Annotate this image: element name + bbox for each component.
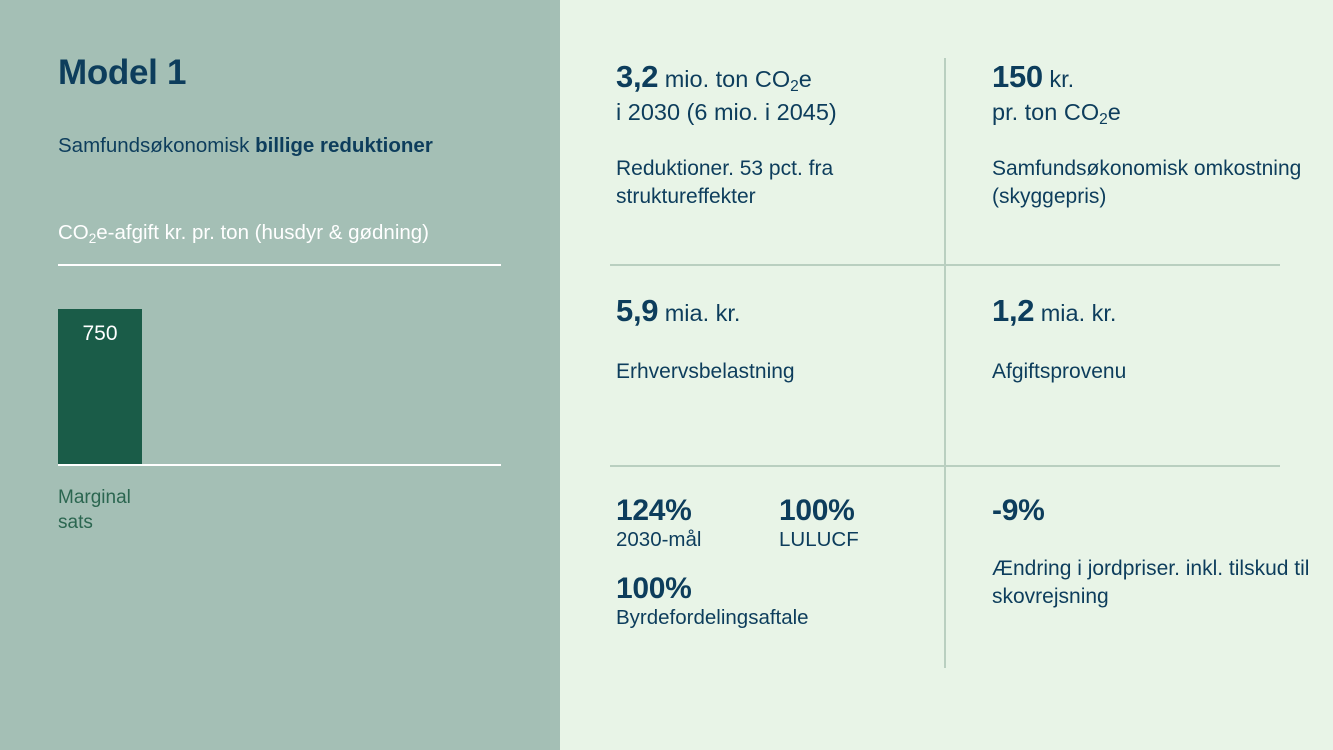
stat-unit-erhvervsbelastning: mia. kr. xyxy=(658,300,740,326)
metric-byrdefordelingsaftale-value: 100% xyxy=(616,572,966,606)
subtitle-bold-text: billige reduktioner xyxy=(255,134,433,157)
stat-headline-skyggepris: 150 kr.pr. ton CO2e xyxy=(992,56,1312,128)
stat-value-reduktioner: 3,2 xyxy=(616,59,658,94)
stat-description-reduktioner: Reduktioner. 53 pct. fra struktureffekte… xyxy=(616,155,936,211)
horizontal-divider-1 xyxy=(610,264,1280,266)
bar-category-label-line1: Marginal xyxy=(58,487,131,508)
metric-byrdefordelingsaftale: 100% Byrdefordelingsaftale xyxy=(616,572,966,630)
stat-cell-jordpriser: -9% Ændring i jordpriser. inkl. tilskud … xyxy=(992,494,1312,610)
chart-caption: CO2e-afgift kr. pr. ton (husdyr & gødnin… xyxy=(58,221,429,246)
metric-lulucf-value: 100% xyxy=(779,494,859,528)
percentage-row: 124% 2030-mål 100% LULUCF xyxy=(616,494,966,552)
infographic-root: Model 1 Samfundsøkonomisk billige redukt… xyxy=(0,0,1333,750)
bar-category-label: Marginalsats xyxy=(58,485,258,536)
bar-marginal-sats: 750 xyxy=(58,309,142,464)
metric-2030-maal-value: 124% xyxy=(616,494,779,528)
stat-value-erhvervsbelastning: 5,9 xyxy=(616,293,658,328)
left-panel: Model 1 Samfundsøkonomisk billige redukt… xyxy=(0,0,560,750)
stat-unit-reduktioner-pre: mio. ton CO xyxy=(658,66,790,92)
page-title: Model 1 xyxy=(58,55,186,90)
stat-unit-reduktioner-post: e xyxy=(799,66,812,92)
chart-caption-subscript: 2 xyxy=(89,231,97,246)
stat-description-jordpriser: Ændring i jordpriser. inkl. tilskud til … xyxy=(992,555,1312,611)
stat-value-jordpriser: -9% xyxy=(992,494,1312,528)
stat-description-skyggepris: Samfundsøkonomisk omkostning (skyggepris… xyxy=(992,155,1312,211)
stat-unit-reduktioner-subscript: 2 xyxy=(790,78,799,95)
caption-divider-rule xyxy=(58,264,501,266)
metric-lulucf: 100% LULUCF xyxy=(779,494,859,552)
stat-value-afgiftsprovenu: 1,2 xyxy=(992,293,1034,328)
stat-cell-erhvervsbelastning: 5,9 mia. kr. Erhvervsbelastning xyxy=(616,290,936,386)
stat-cell-afgiftsprovenu: 1,2 mia. kr. Afgiftsprovenu xyxy=(992,290,1312,386)
bar-category-label-line2: sats xyxy=(58,512,93,533)
right-panel: 3,2 mio. ton CO2ei 2030 (6 mio. i 2045) … xyxy=(560,0,1333,750)
chart-caption-pre: CO xyxy=(58,221,89,244)
stat-subline-skyggepris-subscript: 2 xyxy=(1099,111,1108,128)
metric-lulucf-label: LULUCF xyxy=(779,528,859,553)
stat-cell-maalopfyldelse: 124% 2030-mål 100% LULUCF 100% Byrdeford… xyxy=(616,494,966,630)
stat-cell-skyggepris: 150 kr.pr. ton CO2e Samfundsøkonomisk om… xyxy=(992,56,1312,211)
stat-subline-reduktioner: i 2030 (6 mio. i 2045) xyxy=(616,99,837,125)
stat-headline-afgiftsprovenu: 1,2 mia. kr. xyxy=(992,290,1312,331)
horizontal-divider-2 xyxy=(610,465,1280,467)
stat-subline-skyggepris-pre: pr. ton CO xyxy=(992,99,1099,125)
metric-byrdefordelingsaftale-label: Byrdefordelingsaftale xyxy=(616,606,966,631)
stat-headline-reduktioner: 3,2 mio. ton CO2ei 2030 (6 mio. i 2045) xyxy=(616,56,936,128)
chart-caption-post: e-afgift kr. pr. ton (husdyr & gødning) xyxy=(96,221,429,244)
bar-chart: 750 xyxy=(58,280,501,466)
metric-2030-maal: 124% 2030-mål xyxy=(616,494,779,552)
stat-cell-reduktioner: 3,2 mio. ton CO2ei 2030 (6 mio. i 2045) … xyxy=(616,56,936,211)
bar-value-label: 750 xyxy=(58,323,142,344)
subtitle-normal-text: Samfundsøkonomisk xyxy=(58,134,255,157)
stat-description-afgiftsprovenu: Afgiftsprovenu xyxy=(992,358,1312,386)
stat-unit-skyggepris: kr. xyxy=(1043,66,1074,92)
subtitle: Samfundsøkonomisk billige reduktioner xyxy=(58,132,488,159)
stat-subline-skyggepris-post: e xyxy=(1108,99,1121,125)
chart-baseline xyxy=(58,464,501,466)
stat-unit-afgiftsprovenu: mia. kr. xyxy=(1034,300,1116,326)
stat-headline-erhvervsbelastning: 5,9 mia. kr. xyxy=(616,290,936,331)
stat-description-erhvervsbelastning: Erhvervsbelastning xyxy=(616,358,936,386)
stat-value-skyggepris: 150 xyxy=(992,59,1043,94)
metric-2030-maal-label: 2030-mål xyxy=(616,528,779,553)
